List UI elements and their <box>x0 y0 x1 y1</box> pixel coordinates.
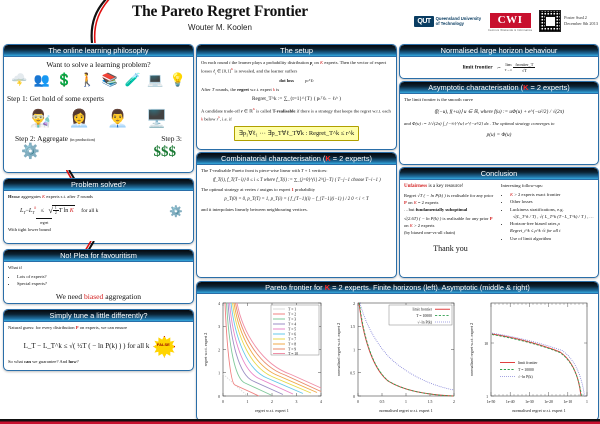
qut-logo-text: Queensland University of Technology <box>436 16 481 27</box>
setup-p1-c: on <box>313 60 320 65</box>
combinatorial-paragraph-1: The T-realisable Pareto front is piece-w… <box>201 168 392 175</box>
conclusion-headline-b: is a key resource! <box>427 184 463 189</box>
list-item: K > 2 experts exact frontier <box>510 192 594 199</box>
conclusion-line-1: Regret √T ( − ln P(k) ) is realisable fo… <box>404 193 497 206</box>
chart1-ytick-2: 2 <box>218 348 220 352</box>
chart3-legend-sqrt-lnP: √−ln P(k) <box>518 375 533 379</box>
conclusion-l2-a: …but <box>404 207 416 212</box>
panel-simply-tune: Simply tune a little differently? Natura… <box>3 309 194 371</box>
setup-p2-a: After <box>201 87 212 92</box>
panel-title-normalised: Normalised large horizon behaviour <box>400 45 598 57</box>
setup-p1-a: On each round <box>201 60 229 65</box>
chart1-legend-T4: T = 4 <box>288 322 296 326</box>
chart2-ylabel: normalised regret w.r.t. expert 2 <box>336 323 341 376</box>
chart1-legend-T7: T = 7 <box>288 337 296 341</box>
tune-footer-c: we guarantee? And <box>31 359 69 364</box>
chart1-xtick-2: 2 <box>271 400 273 404</box>
chart-asymptotic-log: 1 10 1e-50 1e-40 1e-30 1e-20 1e-10 1 <box>465 296 596 418</box>
normalised-eq-limit: lim T→∞ <box>505 63 512 72</box>
crowd-icon: 👥 <box>34 71 50 90</box>
chart1-ytick-3: 3 <box>218 325 220 329</box>
setup-highlighted-equation: ∃p₁∀ℓ₁ ··· ∃p_T∀ℓ_T∀k : Regret_T^k ≤ r^k <box>234 126 359 141</box>
philosophy-icon-row: 🌩️ 👥 💲 🚶 📚 🧪 💻 💡 <box>7 70 190 90</box>
comb-p1-b: -realisable Pareto front is piece-wise l… <box>212 168 301 173</box>
setup-dotloss-label: dot loss <box>279 78 294 83</box>
conclusion-left-column: Unfairness is a key resource! Regret √T … <box>404 183 497 255</box>
setup-dot-loss-line: dot loss pₜᵀℓₜ <box>201 78 392 85</box>
conclusion-followups-list: K > 2 experts exact frontier Other losse… <box>510 192 594 243</box>
chart1-xtick-4: 4 <box>320 400 322 404</box>
setup-regret-equation: Regret_T^k := ∑_{t=1}^{T} ( pₜᵀℓₜ − ℓₜᵏ … <box>201 96 392 104</box>
panel-title-frontier: Pareto frontier for K = 2 experts. Finit… <box>197 282 598 294</box>
setup-dotloss-eq: pₜᵀℓₜ <box>305 78 314 83</box>
panel-combinatorial-characterisation: Combinatorial characterisation (K = 2 ex… <box>196 152 397 278</box>
false-badge: FALSE <box>153 336 173 356</box>
chart3-xtick-1: 1e-40 <box>506 400 515 404</box>
eq-root-K: K <box>70 208 74 214</box>
list-item: Luckiness stratifications, e.g. √(L_T^k … <box>510 207 594 220</box>
qr-code-block: Poster Sun12 December 8th 2013 <box>539 10 598 32</box>
chart1-legend-T8: T = 8 <box>288 342 296 346</box>
asymptotic-title-b: = 2 experts) <box>528 83 569 92</box>
conclusion-headline: Unfairness is a key resource! <box>404 183 497 190</box>
eq-radicand: 12T ln K <box>52 205 75 216</box>
philosophy-expert-row: 👨‍🔬 👩‍💼 👨‍💼 🖥️ <box>7 105 190 132</box>
chart1-plot-area: 0 1 2 3 4 0 1 2 3 4 <box>218 302 322 404</box>
chart2-xtick-4: 2 <box>453 400 455 404</box>
chart3-plot-area: 1 10 1e-50 1e-40 1e-30 1e-20 1e-10 1 <box>484 303 588 404</box>
conclusion-l1-d: = 2 experts <box>417 200 439 205</box>
normalised-eq-fraction: frontier_T √T <box>513 62 535 73</box>
chart2-plot-area: 0 0.5 1 1.5 2 0 0.5 1 1.5 2 <box>350 302 455 404</box>
normalised-eq-den: √T <box>513 68 535 73</box>
conclusion-l3-P: P <box>490 216 493 221</box>
frontier-title-a: Pareto frontier for <box>265 283 325 292</box>
favouritism-conc-c: aggregation <box>103 292 141 301</box>
comb-p2-a: The optimal strategy at vertex <box>201 187 257 192</box>
lightbulb-icon: 💡 <box>170 71 186 90</box>
chart3-legend-limit-frontier: limit frontier <box>518 361 538 365</box>
conclusion-l3-eq: √(2.6T) ( − ln P(k) ) <box>404 216 441 221</box>
conclusion-l3-a: is realisable for any prior <box>441 216 489 221</box>
medicine-icon: 🧪 <box>124 71 140 90</box>
panel-the-setup: The setup On each round t the learner pl… <box>196 44 397 150</box>
cwi-logo-mark: CWI <box>490 13 531 28</box>
asymptotic-eq2-a: and Φ(u) := <box>404 121 428 126</box>
chart3-xtick-4: 1e-10 <box>563 400 572 404</box>
setup-p3-Trealisable: T-realisable <box>272 108 295 113</box>
worker-icon: 🚶 <box>79 71 95 90</box>
philosophy-step2-text: Step 2: Aggregate <box>15 134 68 143</box>
qut-logo-line2: of Technology <box>436 21 464 26</box>
conclusion-l1-a: Regret <box>404 193 417 198</box>
list-item: Other losses <box>510 199 594 206</box>
setup-p3-c: is called <box>255 108 272 113</box>
qr-code-icon <box>539 10 561 32</box>
eq-regret-brace: regret <box>3 216 98 226</box>
tune-footer: So what can we guarantee? And how? <box>8 359 189 366</box>
panel-title-problem-solved: Problem solved? <box>4 179 193 191</box>
combinatorial-paragraph-2: The optimal strategy at vertex i assigns… <box>201 187 392 194</box>
chart1-ylabel: regret w.r.t. expert 2 <box>203 333 208 367</box>
panel-pareto-frontier-charts: Pareto frontier for K = 2 experts. Finit… <box>196 281 599 421</box>
normalised-eq-lim: lim <box>505 62 511 67</box>
list-item: Lots of experts? <box>17 274 189 281</box>
charts-container: 0 1 2 3 4 0 1 2 3 4 <box>197 294 598 418</box>
conclusion-l1-eq: √T ( − ln P(k) ) <box>417 193 445 198</box>
chart1-ytick-0: 0 <box>218 395 220 399</box>
conclusion-l3-c: > 2 experts <box>413 223 435 228</box>
list-item: Special experts? <box>17 281 189 288</box>
expert-man-icon: 👨‍💼 <box>107 107 128 132</box>
comb-p2-b: assigns to expert <box>259 187 292 192</box>
chart1-ytick-4: 4 <box>218 302 220 306</box>
problem-intro-c: experts s.t. after <box>45 194 77 199</box>
favouritism-whatif: What if <box>8 265 189 272</box>
panel-title-tune: Simply tune a little differently? <box>4 310 193 322</box>
eq-regret-label: regret <box>40 221 48 225</box>
combinatorial-equation-2: p_T(0) = 0, p_T(T) = 1, p_T(i) = ( f_{T−… <box>201 197 392 204</box>
setup-paragraph-1: On each round t the learner plays a prob… <box>201 60 392 76</box>
setup-p2-b: rounds, the <box>214 87 237 92</box>
setup-p1-b: the learner plays a probability distribu… <box>230 60 309 65</box>
chart2-legend-T10000: T = 10000 <box>416 314 432 318</box>
conclusion-unfairness: Unfairness <box>404 184 427 189</box>
chart3-xtick-0: 1e-50 <box>487 400 496 404</box>
followup-b4-b: Regret_t^k ≤ ρ^k √t for all t <box>510 228 594 235</box>
eq-LTk: LTk <box>29 208 36 214</box>
qut-logo: QUT Queensland University of Technology <box>414 16 481 27</box>
chart3-ytick-1: 1 <box>486 395 488 399</box>
asymptotic-equation-3: p(u) = Φ(u) <box>404 132 594 140</box>
poster-root: The Pareto Regret Frontier Wouter M. Koo… <box>0 0 600 424</box>
problem-intro-b: aggregates <box>20 194 42 199</box>
chart1-xlabel: regret w.r.t. expert 1 <box>255 408 289 413</box>
setup-paragraph-2: After T rounds, the regret w.r.t. expert… <box>201 87 392 94</box>
normalised-eq-lhs: limit frontier <box>463 65 493 71</box>
cwi-logo-sub: Centrum Wiskunde & Informatica <box>488 29 532 32</box>
chart3-xtick-2: 1e-30 <box>525 400 534 404</box>
setup-p1-f: is revealed, and the learner suffers <box>233 69 297 74</box>
favouritism-bullet-list: Lots of experts? Special experts? <box>17 274 189 288</box>
philosophy-step1-label: Step 1: Get hold of some experts <box>7 94 190 105</box>
chart1-legend-T10: T = 10 <box>288 352 298 356</box>
chart-asymptotic-linear: 0 0.5 1 1.5 2 0 0.5 1 1.5 2 <box>332 296 463 418</box>
favouritism-conc-a: We need <box>56 292 84 301</box>
expert-server-icon: 🖥️ <box>146 107 167 132</box>
conclusion-line-4: (by biased one-vs-all chain) <box>404 230 497 237</box>
chart2-ytick-3: 1.5 <box>350 325 355 329</box>
laptop-icon: 💻 <box>147 71 163 90</box>
combinatorial-title-b: = 2 experts) <box>331 154 372 163</box>
chart-finite-horizons: 0 1 2 3 4 0 1 2 3 4 <box>199 296 330 418</box>
frontier-title-b: = 2 experts. Finite horizons (left). Asy… <box>330 283 530 292</box>
money-icon: 💲 <box>56 71 72 90</box>
conclusion-l2-b: fundamentally suboptimal <box>416 207 468 212</box>
panel-title-favouritism: No! Plea for favouritism <box>4 250 193 262</box>
chart1-ytick-1: 1 <box>218 372 220 376</box>
panel-title-combinatorial: Combinatorial characterisation (K = 2 ex… <box>197 153 396 165</box>
panel-online-learning-philosophy: The online learning philosophy Want to s… <box>3 44 194 173</box>
panel-title-asymptotic: Asymptotic characterisation (K = 2 exper… <box>400 82 598 94</box>
panel-asymptotic-characterisation: Asymptotic characterisation (K = 2 exper… <box>399 81 599 165</box>
comb-p1-c: + 1 vertices: <box>304 168 328 173</box>
problem-solved-equation: LT−LTk ≤ √12T ln K for all k regret <box>20 205 98 226</box>
chart2-legend-limit-frontier: limit frontier <box>412 308 432 312</box>
normalised-eq-def: := <box>497 65 501 70</box>
tune-equation: L_T − L_T^k ≤ √( ½T ( − ln P(k) ) ) for … <box>24 341 150 351</box>
chart1-xtick-1: 1 <box>247 400 249 404</box>
chart1-legend-T6: T = 6 <box>288 332 296 336</box>
philosophy-question: Want to solve a learning problem? <box>7 59 190 70</box>
eq-for-all-k: for all k <box>81 208 98 214</box>
setup-p3-b: ∈ ℝ <box>243 108 253 113</box>
chart2-xlabel: normalised regret w.r.t. expert 1 <box>379 408 432 413</box>
tune-intro-a: Natural guess: for every distribution <box>8 325 76 330</box>
chart3-xtick-5: 1 <box>586 400 588 404</box>
tune-footer-a: So what <box>8 359 24 364</box>
asymptotic-paragraph-1: The limit frontier is the smooth curve <box>404 97 594 104</box>
panel-title-conclusion: Conclusion <box>400 168 598 180</box>
chart2-ytick-2: 1 <box>353 348 355 352</box>
problem-intro-d: rounds <box>79 194 93 199</box>
asymptotic-title-a: Asymptotic characterisation ( <box>428 83 523 92</box>
chart1-legend-T1: T = 1 <box>288 307 296 311</box>
setup-p1-e: ∈ [0,1] <box>216 69 231 74</box>
combinatorial-title-a: Combinatorial characterisation ( <box>221 154 325 163</box>
conclusion-line-3: √(2.6T) ( − ln P(k) ) is realisable for … <box>404 216 497 229</box>
chart1-xtick-0: 0 <box>222 400 224 404</box>
list-item: Horizon-free biased rates ρ Regret_t^k ≤… <box>510 221 594 234</box>
chart2-legend: limit frontier T = 10000 √−ln P(k) <box>389 305 452 325</box>
chart3-ytick-10: 10 <box>484 342 488 346</box>
chart3-xtick-3: 1e-20 <box>544 400 553 404</box>
chart3-legend-T10000: T = 10000 <box>518 368 534 372</box>
setup-paragraph-3: A candidate trade-off r ∈ ℝK is called T… <box>201 107 392 123</box>
eq-root-ln: ln <box>64 208 69 214</box>
setup-p3-a: A candidate trade-off <box>201 108 241 113</box>
eq-LTk-sub: T <box>32 211 34 215</box>
chart2-xtick-1: 0.5 <box>380 400 385 404</box>
poster-date: December 8th 2013 <box>564 21 598 26</box>
chart2-ytick-0: 0 <box>353 395 355 399</box>
setup-p2-d: is <box>275 87 279 92</box>
panel-title-setup: The setup <box>197 45 396 57</box>
chart2-xtick-3: 1.5 <box>428 400 433 404</box>
cwi-logo: CWI Centrum Wiskunde & Informatica <box>488 10 532 32</box>
qut-logo-mark: QUT <box>414 16 433 27</box>
followup-b3: Luckiness stratifications, e.g. <box>510 207 564 212</box>
philosophy-step2-note: (in production) <box>70 137 95 142</box>
chart1-legend-T5: T = 5 <box>288 327 296 331</box>
conclusion-right-column: Interesting follow-ups: K > 2 experts ex… <box>501 183 594 255</box>
setup-p3-e: below <box>203 117 217 122</box>
conclusion-followups-head: Interesting follow-ups: <box>501 183 594 190</box>
favouritism-conclusion: We need biased aggregation <box>8 291 189 302</box>
panel-title-philosophy: The online learning philosophy <box>4 45 193 57</box>
list-item: Use of limit algorithm <box>510 236 594 243</box>
setup-p3-d: if there is a strategy that keeps the re… <box>295 108 390 113</box>
gear-icon: ⚙️ <box>169 205 183 221</box>
panel-plea-for-favouritism: No! Plea for favouritism What if Lots of… <box>3 249 194 304</box>
eq-relation: ≤ <box>41 208 44 214</box>
conclusion-l1-b: is realisable for any prior <box>446 193 493 198</box>
chart2-ytick-1: 0.5 <box>350 372 355 376</box>
hedge-name: Hedge <box>8 194 20 199</box>
followup-b4-a: Horizon-free biased rates <box>510 221 558 226</box>
expert-scientist-icon: 👨‍🔬 <box>30 107 51 132</box>
chart1-xtick-3: 3 <box>296 400 298 404</box>
page-title: The Pareto Regret Frontier <box>60 3 380 21</box>
panel-normalised-large-horizon: Normalised large horizon behaviour limit… <box>399 44 599 79</box>
qut-logo-line1: Queensland University <box>436 16 481 21</box>
asymptotic-equation-1: ⟨f(−u), f(+u)⟩ u ∈ ℝ, where f(u) := uΦ(u… <box>404 109 594 117</box>
storm-icon: 🌩️ <box>11 71 27 90</box>
tune-footer-e: ? <box>77 359 79 364</box>
favouritism-conc-biased: biased <box>84 292 103 301</box>
asymptotic-eq2-b: 1/√(2π) ∫_{−∞}^{u} e^{−x²/2} dx . The op… <box>428 121 555 126</box>
comb-p2-c: probability <box>294 187 315 192</box>
false-badge-label: FALSE <box>153 342 173 348</box>
chart1-legend: T = 1 T = 2 T = 3 T = 4 T = 5 T = 6 T = … <box>271 305 319 356</box>
conclusion-line-2: …but fundamentally suboptimal <box>404 207 497 214</box>
tune-footer-can: can <box>24 359 31 364</box>
chart1-legend-T2: T = 2 <box>288 312 296 316</box>
chart2-xtick-2: 1 <box>405 400 407 404</box>
setup-p2-regret: regret <box>237 87 249 92</box>
books-icon: 📚 <box>102 71 118 90</box>
chart1-legend-T3: T = 3 <box>288 317 296 321</box>
setup-p3-f: , i.e. if <box>220 117 232 122</box>
author-name: Wouter M. Koolen <box>60 23 380 32</box>
panel-problem-solved: Problem solved? Hedge aggregates K exper… <box>3 178 194 244</box>
eq-root-T: T <box>59 208 62 214</box>
money-stack-icon: $$$ <box>154 145 177 160</box>
normalised-eq-limsub: T→∞ <box>505 68 512 72</box>
combinatorial-equation-1: ⟨f_T(i), f_T(T−i)⟩ 0 ≤ i ≤ T where f_T(i… <box>201 178 392 185</box>
chart2-ytick-4: 2 <box>353 302 355 306</box>
tune-intro-b: on experts, we can ensure <box>79 325 127 330</box>
followup-b1: > 2 experts exact frontier <box>513 192 560 197</box>
problem-solved-footer: With tight lower bound <box>8 227 189 234</box>
combinatorial-paragraph-3: and it interpolates linearly between nei… <box>201 207 392 214</box>
poster-session-id: Poster Sun12 <box>564 15 587 20</box>
poster-header: The Pareto Regret Frontier Wouter M. Koo… <box>0 0 600 42</box>
logo-strip: QUT Queensland University of Technology … <box>414 5 598 37</box>
panel-conclusion: Conclusion Unfairness is a key resource!… <box>399 167 599 278</box>
conclusion-thank-you: Thank you <box>404 243 497 255</box>
followup-b3-eq: √(L_T^k / T) , √( L_T^k (T−L_T^k) / T ) … <box>513 214 594 221</box>
chart1-legend-T9: T = 9 <box>288 347 296 351</box>
tune-intro: Natural guess: for every distribution P … <box>8 325 189 332</box>
eq-LTk-sup: k <box>34 206 36 210</box>
followup-b4-rho: ρ <box>558 221 560 226</box>
poster-session-text: Poster Sun12 December 8th 2013 <box>564 15 598 28</box>
expert-woman-icon: 👩‍💼 <box>69 107 90 132</box>
poster-bottom-bar <box>0 419 600 424</box>
chart3-xlabel: normalised regret w.r.t. expert 1 <box>512 408 565 413</box>
asymptotic-paragraph-2: and Φ(u) := 1/√(2π) ∫_{−∞}^{u} e^{−x²/2}… <box>404 121 594 128</box>
problem-solved-intro: Hedge aggregates K experts s.t. after T … <box>8 194 189 201</box>
chart3-ylabel: normalised regret w.r.t. expert 2 <box>469 323 474 376</box>
chart2-xtick-0: 0 <box>357 400 359 404</box>
gears-icon: ⚙️ <box>21 145 40 160</box>
setup-p2-c: w.r.t. expert <box>249 87 273 92</box>
chart3-legend: limit frontier T = 10000 √−ln P(k) <box>498 358 556 380</box>
tune-footer-how: how <box>68 359 76 364</box>
conclusion-l1-c: on <box>407 200 414 205</box>
chart2-legend-sqrt-lnP: √−ln P(k) <box>417 320 432 324</box>
